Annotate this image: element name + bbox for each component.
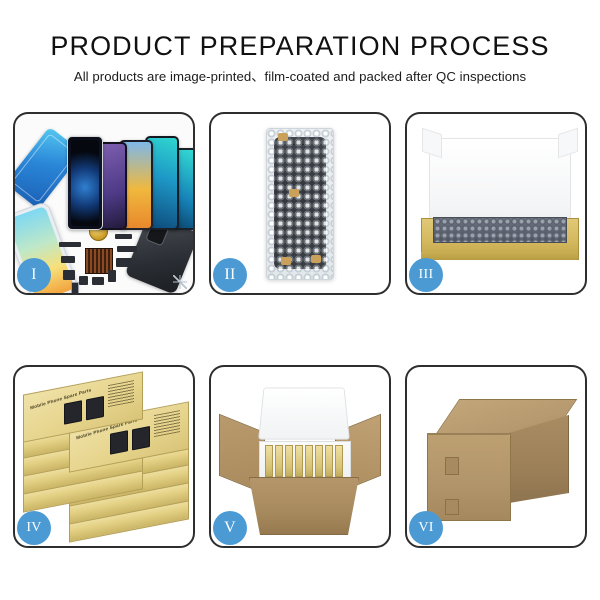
flex-cable-part (61, 256, 75, 263)
kraft-box-item (325, 445, 333, 477)
label-barcode-icon (108, 380, 134, 407)
box-stack: Mobile Phone Spare Parts Mobile Phone Sp… (23, 383, 189, 533)
page-title: PRODUCT PREPARATION PROCESS (0, 30, 600, 62)
phone-screen-fan (67, 124, 193, 230)
page-subtitle: All products are image-printed、film-coat… (0, 68, 600, 86)
screen-photo-icon (110, 430, 128, 454)
screen-photo-icon (86, 396, 104, 420)
sim-tray-part (71, 282, 79, 293)
kraft-box-item (275, 445, 283, 477)
page-header: PRODUCT PREPARATION PROCESS All products… (0, 0, 600, 86)
process-step-grid: I II III (13, 112, 587, 548)
gold-contact-part (115, 234, 132, 239)
gold-tab-part (311, 255, 321, 263)
bubble-wrap-package-icon (266, 128, 334, 280)
kraft-box-item (335, 445, 343, 477)
connector-part (79, 276, 88, 285)
kraft-box-item (265, 445, 273, 477)
step-badge-1: I (17, 258, 51, 292)
step-badge-3: III (409, 258, 443, 292)
flex-cable-part (59, 242, 81, 247)
screen-photo-icon (132, 426, 150, 450)
step-badge-5: V (213, 511, 247, 545)
label-barcode-icon (154, 410, 180, 437)
kraft-box-item (315, 445, 323, 477)
carton-tape-patch (445, 499, 459, 515)
process-step-panel-3[interactable]: III (405, 112, 587, 295)
carton-body-icon (249, 477, 359, 535)
flex-cable-part (117, 246, 137, 252)
kraft-boxes-inside (265, 447, 343, 477)
phone-screen-icon (67, 136, 103, 230)
kraft-box-item (305, 445, 313, 477)
box-label-text: Mobile Phone Spare Parts (30, 387, 92, 410)
bubble-texture-overlay (267, 129, 333, 279)
spare-parts-cluster (59, 222, 163, 293)
sparkle-icon (173, 275, 187, 289)
gold-tab-part (281, 257, 291, 265)
carton-front-face (427, 433, 511, 521)
process-step-panel-4[interactable]: Mobile Phone Spare Parts Mobile Phone Sp… (13, 365, 195, 548)
process-step-panel-6[interactable]: VI (405, 365, 587, 548)
connector-part (63, 270, 75, 280)
step-badge-6: VI (409, 511, 443, 545)
connector-part (116, 258, 132, 267)
screen-photo-icon (64, 400, 82, 424)
carton-seam (427, 433, 509, 435)
process-step-panel-2[interactable]: II (209, 112, 391, 295)
kraft-box-item (285, 445, 293, 477)
process-step-panel-1[interactable]: I (13, 112, 195, 295)
step-badge-4: IV (17, 511, 51, 545)
box-front-fold (421, 252, 577, 260)
step-badge-2: II (213, 258, 247, 292)
foam-padding-icon (433, 217, 567, 243)
carton-tape-patch (445, 457, 459, 475)
foam-box-lid-icon (258, 388, 350, 440)
connector-part (92, 277, 104, 285)
kraft-box-item (295, 445, 303, 477)
process-step-panel-5[interactable]: V (209, 365, 391, 548)
camera-module-part (108, 270, 116, 282)
gold-tab-part (278, 133, 288, 141)
gold-tab-part (289, 189, 299, 197)
